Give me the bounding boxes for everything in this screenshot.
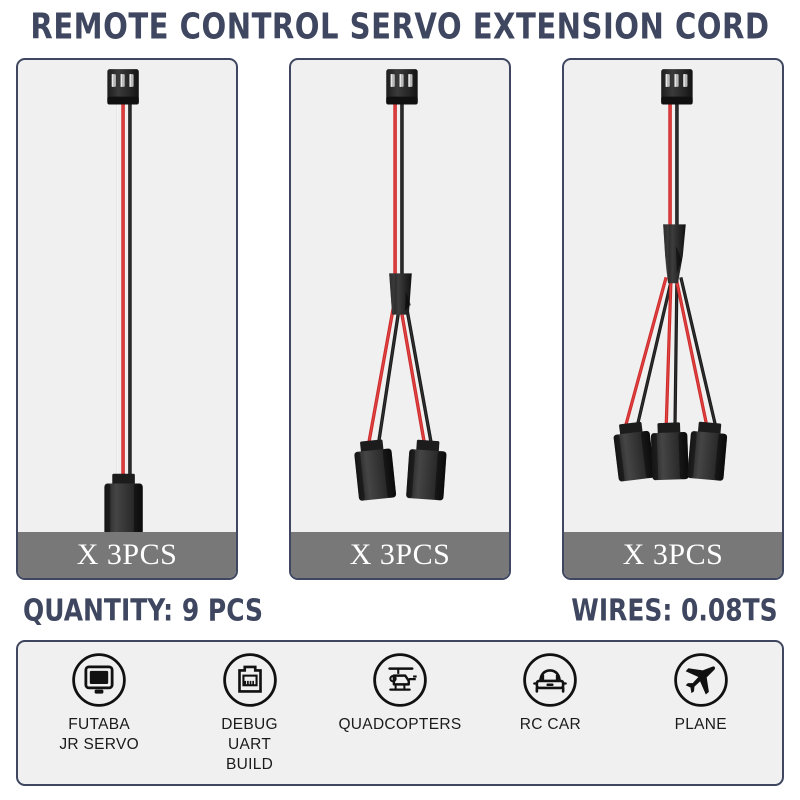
quantity-label: X 3PCS <box>623 538 724 572</box>
page-title: REMOTE CONTROL SERVO EXTENSION CORD <box>30 6 769 47</box>
feature-item-futaba-jr-servo[interactable]: FUTABA JR SERVO <box>29 652 169 755</box>
feature-label: FUTABA JR SERVO <box>59 715 139 755</box>
title-bar: REMOTE CONTROL SERVO EXTENSION CORD <box>0 0 800 50</box>
quantity-band: X 3PCS <box>564 532 782 578</box>
product-card-single-extension-cord[interactable]: X 3PCS <box>16 58 238 580</box>
product-image-single-extension-cord <box>18 60 236 532</box>
product-card-splitter-3-way[interactable]: X 3PCS <box>562 58 784 580</box>
feature-item-quadcopters[interactable]: QUADCOPTERS <box>330 652 470 735</box>
wires-spec: WIRES: 0.08TS <box>571 594 777 629</box>
product-cards-row: X 3PCS <box>0 58 800 583</box>
quantity-band: X 3PCS <box>18 532 236 578</box>
feature-item-rc-car[interactable]: RC CAR <box>480 652 620 735</box>
feature-label: PLANE <box>675 715 727 735</box>
helicopter-icon <box>372 652 428 708</box>
feature-item-plane[interactable]: PLANE <box>631 652 771 735</box>
spec-row: QUANTITY: 9 PCS WIRES: 0.08TS <box>0 588 800 634</box>
rc-car-icon <box>522 652 578 708</box>
feature-label: DEBUG UART BUILD <box>221 715 278 774</box>
quantity-label: X 3PCS <box>77 538 178 572</box>
quantity-label: X 3PCS <box>350 538 451 572</box>
feature-label: RC CAR <box>520 715 581 735</box>
airplane-icon <box>673 652 729 708</box>
product-card-y-splitter-2-way[interactable]: X 3PCS <box>289 58 511 580</box>
monitor-icon <box>71 652 127 708</box>
feature-label: QUADCOPTERS <box>338 715 461 735</box>
product-image-y-splitter-2-way <box>291 60 509 532</box>
rj45-jack-icon <box>222 652 278 708</box>
product-image-splitter-3-way <box>564 60 782 532</box>
compatibility-panel: FUTABA JR SERVO DEBUG UART BUILD <box>16 640 784 786</box>
quantity-spec: QUANTITY: 9 PCS <box>23 594 263 629</box>
feature-item-debug-uart-build[interactable]: DEBUG UART BUILD <box>180 652 320 774</box>
quantity-band: X 3PCS <box>291 532 509 578</box>
